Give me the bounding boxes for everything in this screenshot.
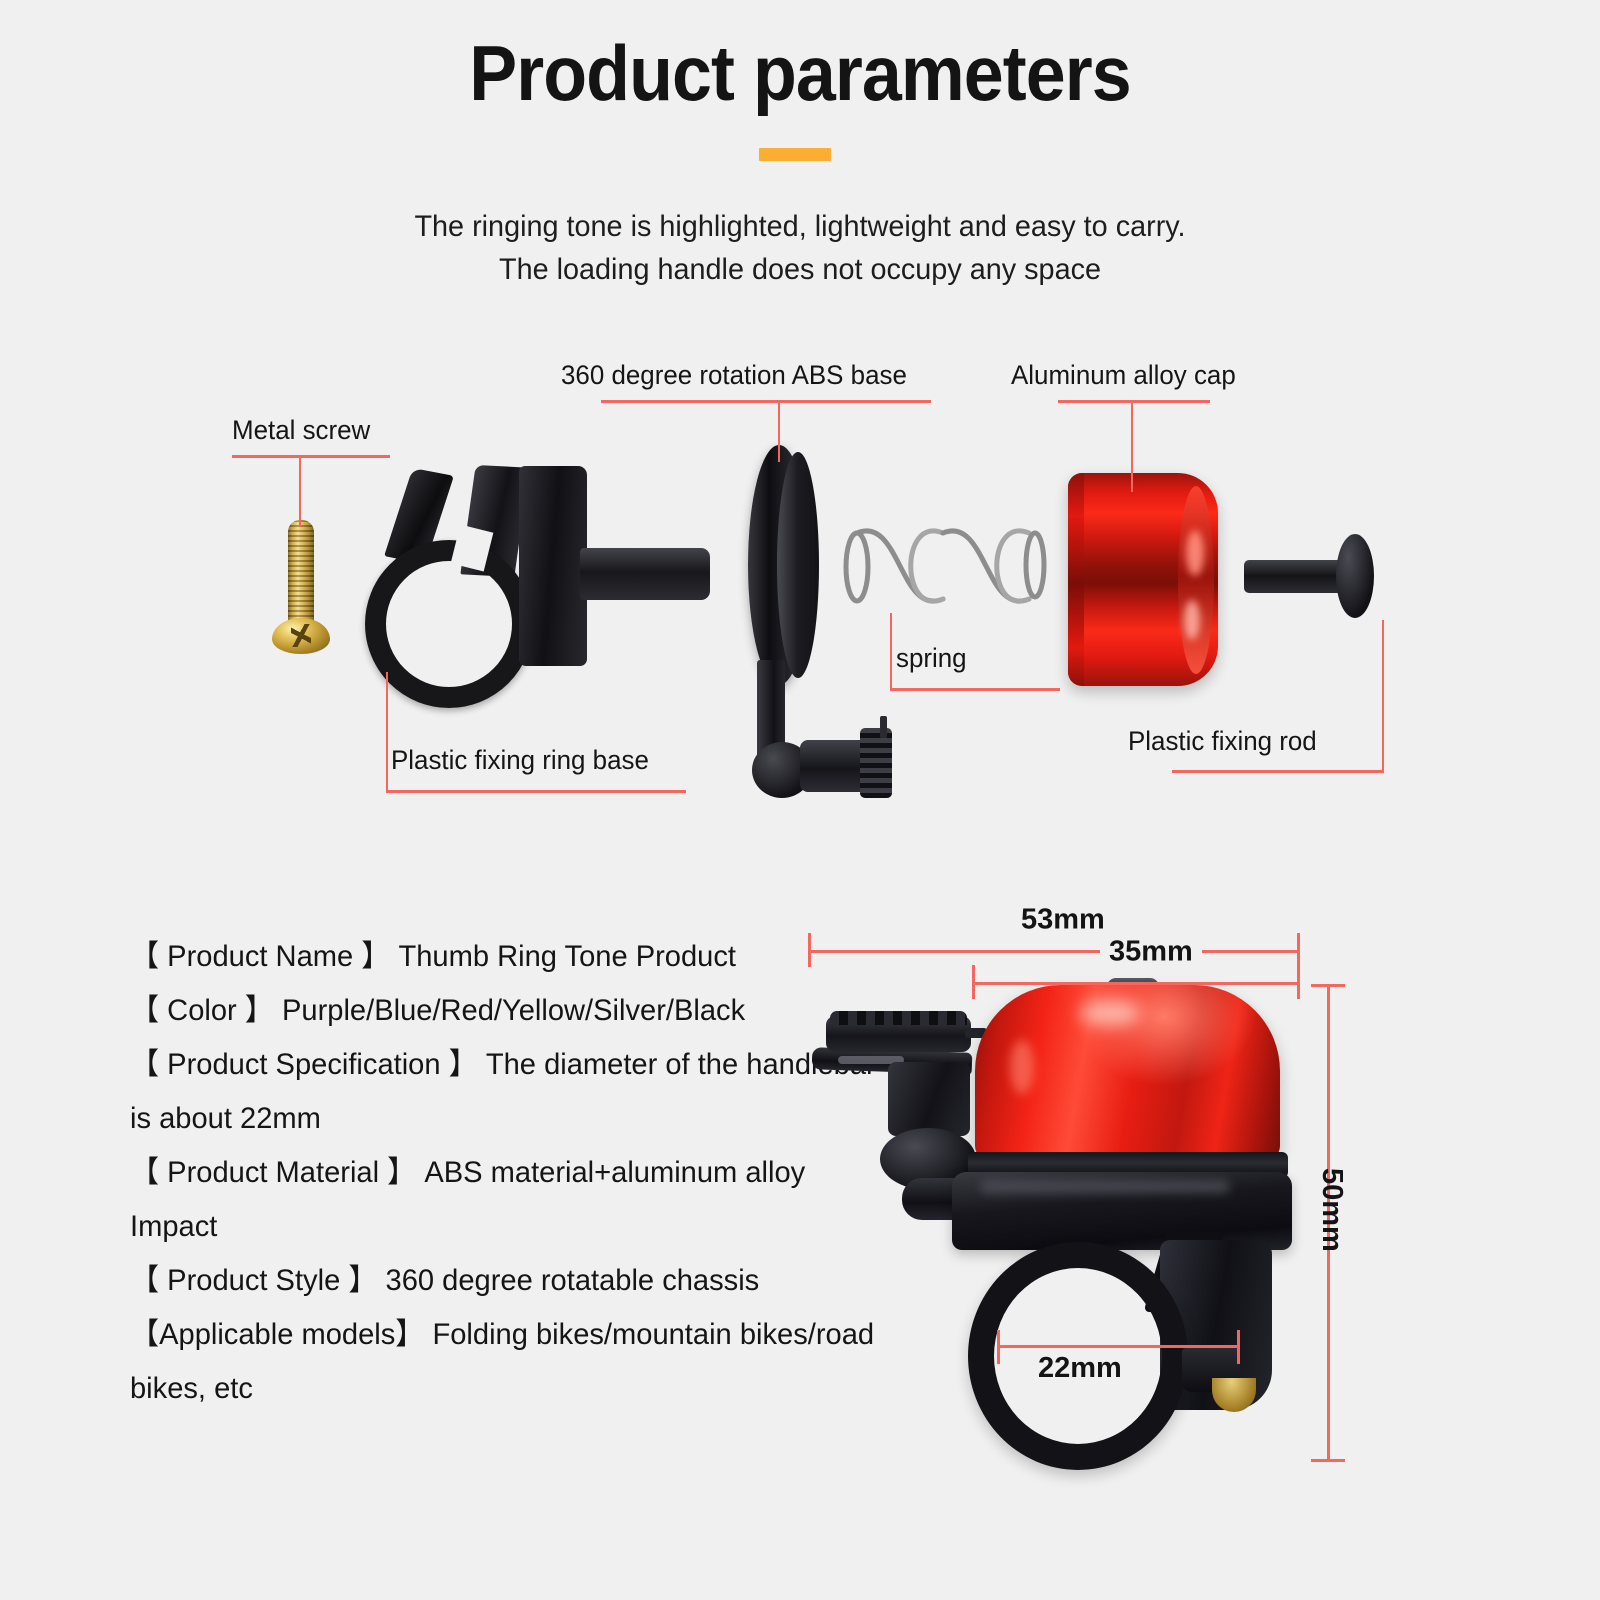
spec-row-specification: 【 Product Specification 】 The diameter o… [130, 1038, 896, 1146]
spec-key-product-name: 【 Product Name 】 [130, 940, 390, 973]
aluminum-cap-left-rim [1068, 473, 1084, 686]
callout-label-ring-base: Plastic fixing ring base [391, 745, 649, 776]
callout-rule-fixing-rod [1172, 770, 1384, 773]
dim-tick-53mm-right [1297, 933, 1300, 967]
abs-base-thumb-grip [860, 728, 892, 798]
dim-tick-22mm-left [997, 1330, 1000, 1364]
metal-screw-head [272, 618, 330, 654]
callout-label-fixing-rod: Plastic fixing rod [1128, 726, 1317, 757]
callout-leader-metal-screw [299, 455, 301, 527]
callout-rule-abs-base [601, 400, 931, 403]
specification-list: 【 Product Name 】 Thumb Ring Tone Product… [130, 930, 920, 1416]
aluminum-cap-highlight-2 [1184, 600, 1200, 640]
spec-value-color: Purple/Blue/Red/Yellow/Silver/Black [282, 994, 745, 1027]
spring-coil-graphic [840, 505, 1050, 630]
spec-key-specification: 【 Product Specification 】 [130, 1048, 478, 1081]
spec-key-applicable-models: 【Applicable models】 [130, 1318, 424, 1351]
callout-leader-abs-base [778, 400, 780, 462]
fixing-ring-stem [580, 548, 710, 600]
abs-base-rim [777, 452, 819, 678]
aluminum-cap-highlight-1 [1186, 530, 1204, 576]
dim-tick-35mm-left [972, 965, 975, 999]
callout-rule-metal-screw [232, 455, 390, 458]
page-title: Product parameters [64, 28, 1536, 119]
subtitle-line-2: The loading handle does not occupy any s… [32, 248, 1568, 291]
spec-value-style: 360 degree rotatable chassis [386, 1264, 760, 1297]
page-subtitle: The ringing tone is highlighted, lightwe… [32, 205, 1568, 291]
fixing-ring-block [519, 466, 587, 666]
dim-tick-22mm-right [1237, 1330, 1240, 1364]
dim-line-22mm [997, 1345, 1240, 1348]
spec-row-style: 【 Product Style 】 360 degree rotatable c… [130, 1254, 896, 1308]
dim-label-53mm: 53mm [1012, 904, 1114, 937]
callout-leader-spring [890, 613, 892, 690]
bell-dome-highlight-1 [1080, 1000, 1140, 1026]
spec-row-product-name: 【 Product Name 】 Thumb Ring Tone Product [130, 930, 896, 984]
callout-label-metal-screw: Metal screw [232, 415, 370, 446]
spec-row-applicable-models: 【Applicable models】 Folding bikes/mounta… [130, 1308, 896, 1416]
spec-key-style: 【 Product Style 】 [130, 1264, 377, 1297]
callout-label-abs-base: 360 degree rotation ABS base [561, 360, 907, 391]
aluminum-cap-gloss [1178, 486, 1214, 674]
dim-tick-50mm-top [1311, 984, 1345, 987]
dim-label-50mm: 50mm [1315, 1168, 1348, 1252]
callout-rule-ring-base [386, 790, 686, 793]
spec-key-material: 【 Product Material 】 [130, 1156, 416, 1189]
spec-key-color: 【 Color 】 [130, 994, 274, 1027]
bell-body-highlight [980, 1180, 1230, 1193]
title-accent-rule [759, 148, 831, 161]
callout-rule-alloy-cap [1058, 400, 1210, 403]
subtitle-line-1: The ringing tone is highlighted, lightwe… [32, 205, 1568, 248]
metal-screw-shaft [288, 520, 314, 630]
thumb-lever-ribs [830, 1011, 967, 1025]
spec-row-color: 【 Color 】 Purple/Blue/Red/Yellow/Silver/… [130, 984, 896, 1038]
fixing-rod-head [1336, 534, 1374, 618]
callout-leader-alloy-cap [1131, 400, 1133, 492]
dim-tick-53mm-left [808, 933, 811, 967]
fixing-ring-clamp [365, 540, 533, 708]
dim-label-35mm: 35mm [1100, 936, 1202, 969]
bell-dome-highlight-2 [1010, 1040, 1034, 1094]
callout-label-spring: spring [896, 643, 967, 674]
dim-line-53mm [808, 950, 1300, 953]
callout-leader-ring-base [386, 672, 388, 792]
dim-tick-35mm-right [1297, 965, 1300, 999]
spec-row-material: 【 Product Material 】 ABS material+alumin… [130, 1146, 896, 1254]
callout-label-alloy-cap: Aluminum alloy cap [1011, 360, 1236, 391]
callout-leader-fixing-rod [1382, 620, 1384, 772]
dim-label-22mm: 22mm [1038, 1352, 1122, 1385]
abs-base-pin [880, 716, 887, 738]
dim-line-35mm [972, 982, 1300, 985]
spec-value-product-name: Thumb Ring Tone Product [398, 940, 736, 973]
thumb-lever-post [888, 1062, 970, 1136]
callout-rule-spring [890, 688, 1060, 691]
dim-tick-50mm-bottom [1311, 1459, 1345, 1462]
